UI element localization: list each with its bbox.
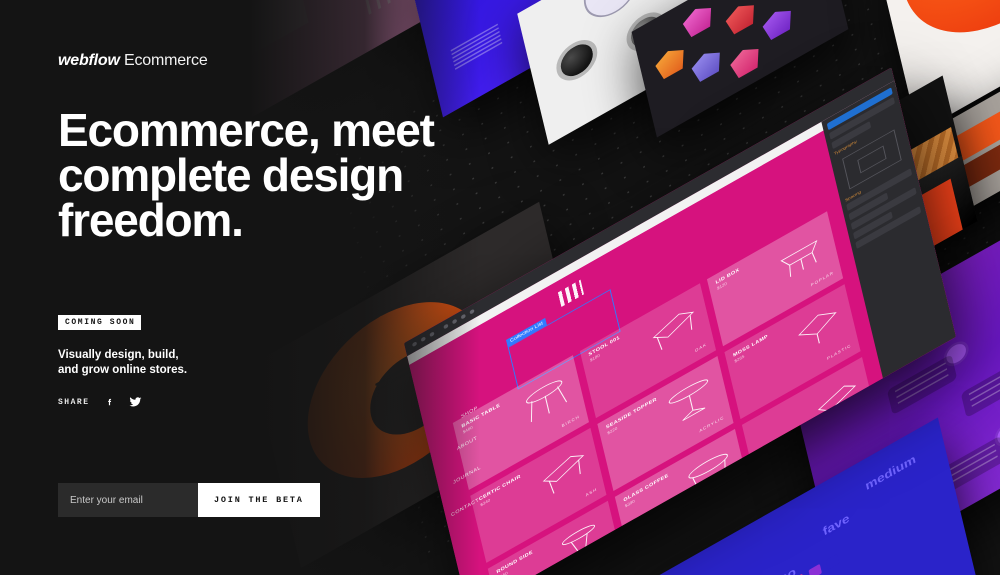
share-row: SHARE (58, 397, 142, 408)
twitter-icon[interactable] (129, 397, 142, 408)
gem-red (722, 0, 759, 40)
gem-pink (727, 41, 764, 83)
palette-word-mono: mono (759, 565, 798, 575)
beta-signup-form[interactable]: JOIN THE BETA (58, 483, 320, 517)
hero-subtitle-line-2: and grow online stores. (58, 363, 187, 378)
brand-logo-suffix: Ecommerce (124, 52, 208, 69)
product-material: POPLAR (810, 271, 834, 288)
blue-text-lines (451, 24, 503, 72)
hero-subtitle: Visually design, build, and grow online … (58, 348, 187, 378)
gem-periwinkle (688, 45, 725, 87)
product-material: STEEL (596, 560, 615, 575)
gem-magenta (680, 0, 717, 42)
palette-swatch-5 (826, 554, 840, 570)
status-badge: COMING SOON (58, 315, 141, 330)
gem-orange (652, 42, 689, 84)
facebook-icon[interactable] (104, 397, 115, 408)
hero-subtitle-line-1: Visually design, build, (58, 348, 187, 363)
product-material: GOLD (725, 488, 742, 501)
brand-logo-mark: webflow (58, 52, 120, 69)
palette-word-medium: medium (864, 452, 917, 493)
store-logo-icon (558, 280, 584, 307)
join-beta-button[interactable]: JOIN THE BETA (198, 483, 320, 517)
pink-card-bars (362, 0, 413, 17)
watch-black (553, 32, 601, 88)
purple-card-2 (961, 357, 1000, 418)
palette-word-fave: fave (822, 512, 851, 539)
product-material: ASH (585, 487, 598, 498)
hero-stage: ⟶ fave mono random contrast medium (0, 0, 1000, 575)
product-material: OAK (694, 342, 707, 353)
product-material: BIRCH (561, 414, 580, 428)
product-material: PLASTIC (827, 343, 852, 361)
product-material: ACRYLIC (699, 415, 725, 433)
brand-logo[interactable]: webflow Ecommerce (58, 52, 208, 70)
email-field[interactable] (58, 483, 198, 517)
citrus-circle-graphic (886, 0, 1000, 68)
page-title: Ecommerce, meet complete design freedom. (58, 108, 478, 243)
palette-swatch-4 (808, 564, 822, 575)
gem-purple (759, 3, 796, 45)
share-label: SHARE (58, 398, 90, 407)
pink-card-thumb (218, 0, 308, 68)
